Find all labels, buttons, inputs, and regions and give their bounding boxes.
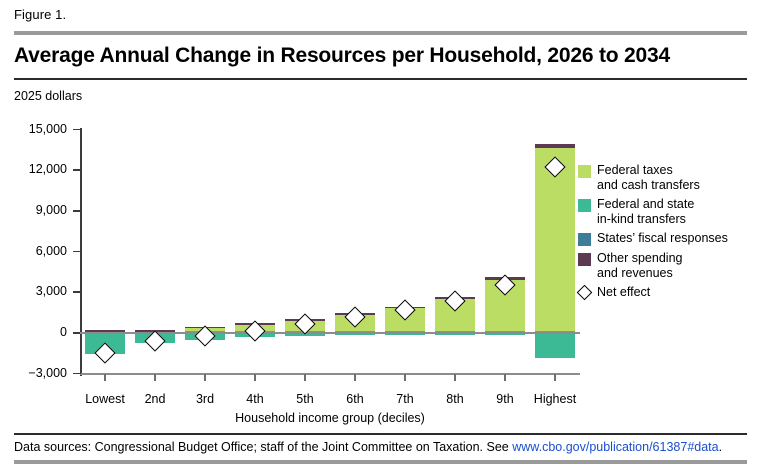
source-link[interactable]: www.cbo.gov/publication/61387#data: [512, 440, 718, 454]
legend-item-states: States’ fiscal responses: [578, 231, 754, 246]
x-axis-label: 6th: [346, 392, 363, 406]
legend-item-taxes: Federal taxesand cash transfers: [578, 163, 754, 192]
x-axis-label: 4th: [246, 392, 263, 406]
x-axis-tick: [204, 374, 206, 381]
chart-legend: Federal taxesand cash transfersFederal a…: [578, 163, 754, 305]
legend-label-line: in-kind transfers: [597, 212, 694, 227]
y-axis-label: 6,000: [5, 244, 67, 258]
x-axis-tick: [304, 374, 306, 381]
title-underline-rule: [14, 78, 747, 80]
x-axis-label: 7th: [396, 392, 413, 406]
footer-rule: [14, 433, 747, 435]
top-rule: [14, 31, 747, 35]
x-axis-title: Household income group (deciles): [80, 411, 580, 425]
bar-segment-inkind: [535, 331, 575, 358]
legend-label-line: Net effect: [597, 285, 650, 300]
plot-area: [80, 128, 580, 374]
y-axis-label: −3,000: [5, 366, 67, 380]
legend-swatch-inkind: [578, 199, 591, 212]
data-sources-note: Data sources: Congressional Budget Offic…: [14, 440, 747, 454]
y-axis-label: 0: [5, 325, 67, 339]
y-axis-label: 3,000: [5, 284, 67, 298]
x-axis-tick: [404, 374, 406, 381]
legend-swatch-states: [578, 233, 591, 246]
x-axis-tick: [554, 374, 556, 381]
y-axis-label: 12,000: [5, 162, 67, 176]
figure-page: Figure 1. Average Annual Change in Resou…: [0, 0, 760, 469]
legend-item-other: Other spendingand revenues: [578, 251, 754, 280]
x-axis-label: 5th: [296, 392, 313, 406]
footer-text-end: .: [719, 440, 722, 454]
legend-swatch-taxes: [578, 165, 591, 178]
x-axis-tick: [154, 374, 156, 381]
x-axis-label: Lowest: [85, 392, 125, 406]
legend-label: Federal taxesand cash transfers: [597, 163, 700, 192]
bar-segment-other: [535, 144, 575, 148]
legend-swatch-other: [578, 253, 591, 266]
x-axis-tick: [354, 374, 356, 381]
units-label: 2025 dollars: [14, 89, 82, 103]
x-axis-tick: [504, 374, 506, 381]
legend-item-net: Net effect: [578, 285, 754, 300]
legend-label: Federal and statein-kind transfers: [597, 197, 694, 226]
x-axis-label: 8th: [446, 392, 463, 406]
bar-7th: [385, 128, 425, 372]
y-axis-label: 15,000: [5, 122, 67, 136]
x-axis-label: 3rd: [196, 392, 214, 406]
legend-label-line: and revenues: [597, 266, 682, 281]
bar-9th: [485, 128, 525, 372]
bar-lowest: [85, 128, 125, 372]
footer-text: Data sources: Congressional Budget Offic…: [14, 440, 512, 454]
x-axis-label: 2nd: [145, 392, 166, 406]
x-axis-label: Highest: [534, 392, 576, 406]
bar-5th: [285, 128, 325, 372]
legend-label: States’ fiscal responses: [597, 231, 728, 246]
legend-label: Net effect: [597, 285, 650, 300]
bottom-rule: [14, 460, 747, 464]
bar-6th: [335, 128, 375, 372]
legend-label-line: Other spending: [597, 251, 682, 266]
bar-8th: [435, 128, 475, 372]
page-title: Average Annual Change in Resources per H…: [14, 44, 747, 68]
x-axis-tick: [254, 374, 256, 381]
legend-item-inkind: Federal and statein-kind transfers: [578, 197, 754, 226]
y-axis-label: 9,000: [5, 203, 67, 217]
x-axis-tick: [104, 374, 106, 381]
x-axis-label: 9th: [496, 392, 513, 406]
legend-label-line: States’ fiscal responses: [597, 231, 728, 246]
legend-label: Other spendingand revenues: [597, 251, 682, 280]
legend-label-line: Federal and state: [597, 197, 694, 212]
x-axis-tick: [454, 374, 456, 381]
legend-label-line: Federal taxes: [597, 163, 700, 178]
figure-label: Figure 1.: [14, 7, 66, 22]
legend-label-line: and cash transfers: [597, 178, 700, 193]
net-effect-diamond-icon: [578, 286, 591, 299]
